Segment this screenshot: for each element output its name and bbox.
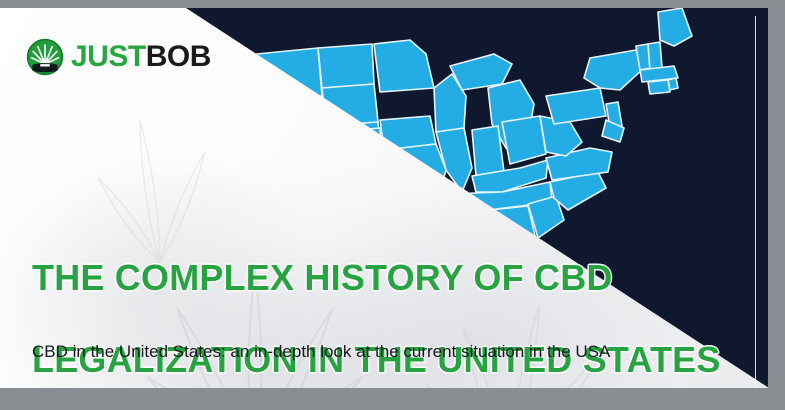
cbd-legalization-banner: JUSTBOB THE COMPLEX HISTORY OF CBD LEGAL… — [0, 0, 785, 410]
frame-bottom-band — [0, 388, 785, 410]
logo-word-bob: BOB — [146, 40, 211, 73]
justbob-logo[interactable]: JUSTBOB — [26, 38, 211, 76]
headline-line-1: THE COMPLEX HISTORY OF CBD — [32, 257, 732, 298]
logo-word-just: JUST — [71, 40, 146, 73]
logo-wordmark: JUSTBOB — [71, 42, 211, 72]
subtitle: CBD in the United States: an in-depth lo… — [32, 337, 662, 367]
right-vertical-rule — [755, 16, 756, 388]
frame-right-band — [768, 0, 785, 410]
frame-top-band — [0, 0, 785, 8]
banner-canvas: JUSTBOB THE COMPLEX HISTORY OF CBD LEGAL… — [0, 8, 769, 388]
cannabis-leaf-circle-icon — [26, 38, 64, 76]
